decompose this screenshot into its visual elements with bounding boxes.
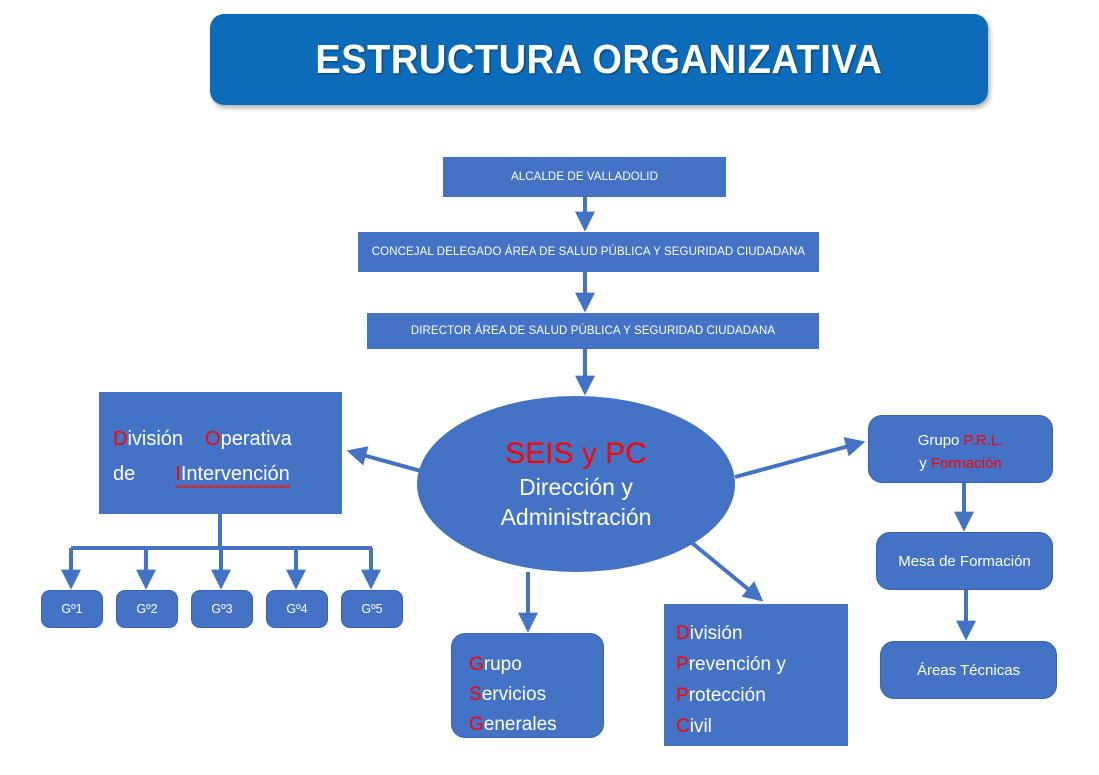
node-label: ALCALDE DE VALLADOLID [511, 171, 658, 183]
label-plain: y [919, 455, 931, 472]
word-remainder: Intervención [181, 463, 290, 485]
node-grupo-2[interactable]: Gº2 [116, 590, 178, 628]
initial-letter: S [469, 684, 482, 705]
node-grupo-prl-formacion[interactable]: Grupo P.R.L. y Formación [868, 415, 1053, 483]
arrow-seis-to-division-prevencion [686, 538, 759, 598]
node-concejal-delegado[interactable]: CONCEJAL DELEGADO ÁREA DE SALUD PÚBLICA … [358, 232, 819, 272]
node-label: Gº3 [211, 602, 232, 616]
initial-letter: P [676, 654, 689, 675]
node-label: Gº1 [61, 602, 82, 616]
node-label: Mesa de Formación [898, 553, 1031, 570]
initial-letter: P [676, 685, 689, 706]
node-grupo-5[interactable]: Gº5 [341, 590, 403, 628]
dppc-line-4: Civil [676, 711, 848, 742]
dppc-line-3: Protección [676, 680, 848, 711]
organizational-chart-canvas: ESTRUCTURA ORGANIZATIVA [0, 0, 1099, 775]
node-grupo-3[interactable]: Gº3 [191, 590, 253, 628]
node-alcalde-de-valladolid[interactable]: ALCALDE DE VALLADOLID [443, 157, 726, 197]
seis-subtitle-line-2: Administración [501, 502, 652, 532]
node-grupo-1[interactable]: Gº1 [41, 590, 103, 628]
node-grupo-4[interactable]: Gº4 [266, 590, 328, 628]
gsg-line-3: Generales [469, 710, 603, 740]
dppc-line-1: División [676, 618, 848, 649]
initial-letter: D [113, 428, 127, 450]
word-remainder: ivisión [690, 623, 743, 644]
node-mesa-de-formacion[interactable]: Mesa de Formación [876, 532, 1053, 590]
node-label: Áreas Técnicas [917, 662, 1020, 679]
initial-letter: D [676, 623, 690, 644]
word-remainder: ivil [690, 716, 712, 737]
node-label: Gº2 [136, 602, 157, 616]
node-seis-y-pc[interactable]: SEIS y PC Dirección y Administración [417, 396, 735, 572]
label-highlight: Formación [931, 455, 1002, 472]
seis-subtitle-line-1: Dirección y [519, 472, 633, 502]
label-highlight: P.R.L. [964, 432, 1004, 449]
node-grupo-servicios-generales[interactable]: Grupo Servicios Generales [451, 633, 604, 738]
gsg-line-1: Grupo [469, 650, 603, 680]
initial-letter: C [676, 716, 690, 737]
page-title: ESTRUCTURA ORGANIZATIVA [315, 36, 882, 83]
node-division-operativa-intervencion[interactable]: DivisiónOperativa deIIntervención [99, 392, 342, 514]
initial-letter: O [205, 428, 221, 450]
seis-title: SEIS y PC [505, 437, 647, 471]
page-title-banner: ESTRUCTURA ORGANIZATIVA [210, 14, 988, 105]
word-remainder: perativa [221, 428, 292, 450]
node-label: CONCEJAL DELEGADO ÁREA DE SALUD PÚBLICA … [372, 246, 805, 258]
node-label: Gº5 [361, 602, 382, 616]
prl-line-2: y Formación [869, 452, 1052, 475]
prl-line-1: Grupo P.R.L. [869, 429, 1052, 452]
word-remainder: ervicios [482, 684, 546, 705]
word-prefix: de [113, 463, 135, 485]
initial-letter: G [469, 714, 484, 735]
word-remainder: ivisión [127, 428, 183, 450]
word-remainder: enerales [484, 714, 557, 735]
node-label: DIRECTOR ÁREA DE SALUD PÚBLICA Y SEGURID… [411, 325, 775, 337]
node-division-prevencion-proteccion-civil[interactable]: División Prevención y Protección Civil [664, 604, 848, 746]
node-areas-tecnicas[interactable]: Áreas Técnicas [880, 641, 1057, 699]
word-remainder: revención y [689, 654, 786, 675]
arrow-seis-to-grupo-prl [735, 443, 860, 477]
division-operativa-line-1: DivisiónOperativa [113, 422, 328, 457]
word-remainder: rupo [484, 654, 522, 675]
misspelled-word: IIntervención [175, 463, 290, 486]
label-plain: Grupo [918, 432, 964, 449]
initial-letter: G [469, 654, 484, 675]
dppc-line-2: Prevención y [676, 649, 848, 680]
node-director-area[interactable]: DIRECTOR ÁREA DE SALUD PÚBLICA Y SEGURID… [367, 313, 819, 349]
node-label: Gº4 [286, 602, 307, 616]
word-remainder: rotección [689, 685, 766, 706]
gsg-line-2: Servicios [469, 680, 603, 710]
division-operativa-line-2: deIIntervención [113, 457, 328, 492]
